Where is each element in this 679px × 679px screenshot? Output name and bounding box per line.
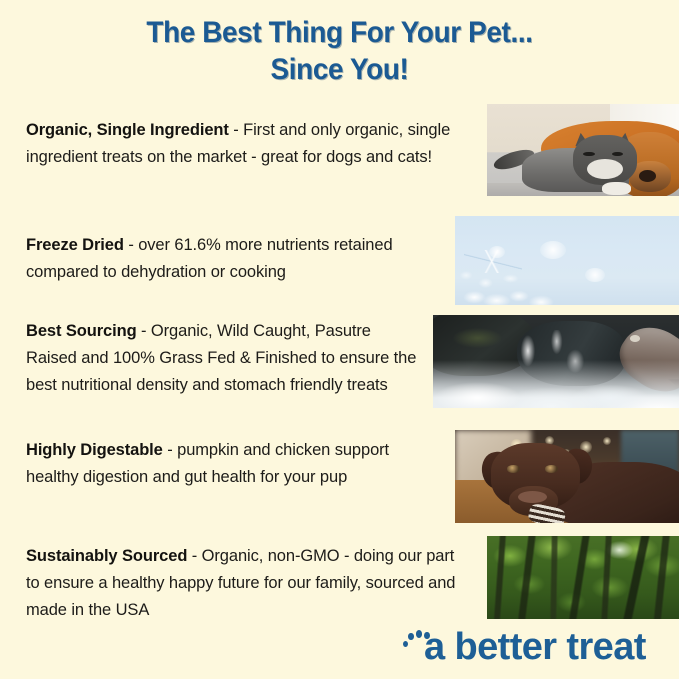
frost-crystal-field	[455, 250, 594, 305]
title-line-1: The Best Thing For Your Pet...	[24, 14, 655, 51]
frost-scene	[455, 216, 679, 305]
cat-and-dog-scene	[487, 104, 679, 196]
benefit-lead: Best Sourcing	[26, 322, 137, 340]
tree-trunks	[487, 536, 679, 619]
salmon-scene	[433, 315, 679, 408]
benefit-lead: Highly Digestable	[26, 441, 163, 459]
bokeh-light	[603, 437, 611, 445]
paw-toe	[416, 630, 422, 638]
white-water-rapids	[433, 360, 679, 408]
lab-eye-left	[507, 465, 520, 472]
benefit-item-organic-single-ingredient: Organic, Single Ingredient - First and o…	[26, 117, 454, 171]
benefit-item-freeze-dried: Freeze Dried - over 61.6% more nutrients…	[26, 232, 446, 286]
benefit-lead: Sustainably Sourced	[26, 547, 187, 565]
chocolate-lab-scene	[455, 430, 679, 523]
benefit-lead: Freeze Dried	[26, 236, 124, 254]
benefit-item-highly-digestable: Highly Digestable - pumpkin and chicken …	[26, 437, 446, 491]
salmon-eye	[630, 335, 640, 342]
forest-scene	[487, 536, 679, 619]
paw-toe	[408, 633, 414, 640]
paw-toe	[403, 641, 408, 647]
pet-treat-infographic: The Best Thing For Your Pet... Since You…	[0, 0, 679, 679]
brand-logo: a better treat	[396, 628, 672, 676]
title-line-2: Since You!	[24, 51, 655, 88]
page-title: The Best Thing For Your Pet... Since You…	[0, 14, 679, 88]
cat-and-dog-photo	[487, 104, 679, 196]
brand-wordmark: a better treat	[424, 626, 646, 669]
lab-eye-right	[545, 465, 558, 472]
salmon-rapids-photo	[433, 315, 679, 408]
green-forest-photo	[487, 536, 679, 619]
chocolate-lab-photo	[455, 430, 679, 523]
cat-paw	[602, 182, 631, 195]
benefit-item-sustainably-sourced: Sustainably Sourced - Organic, non-GMO -…	[26, 543, 471, 624]
benefit-lead: Organic, Single Ingredient	[26, 121, 229, 139]
frost-ice-photo	[455, 216, 679, 305]
benefit-item-best-sourcing: Best Sourcing - Organic, Wild Caught, Pa…	[26, 318, 426, 399]
